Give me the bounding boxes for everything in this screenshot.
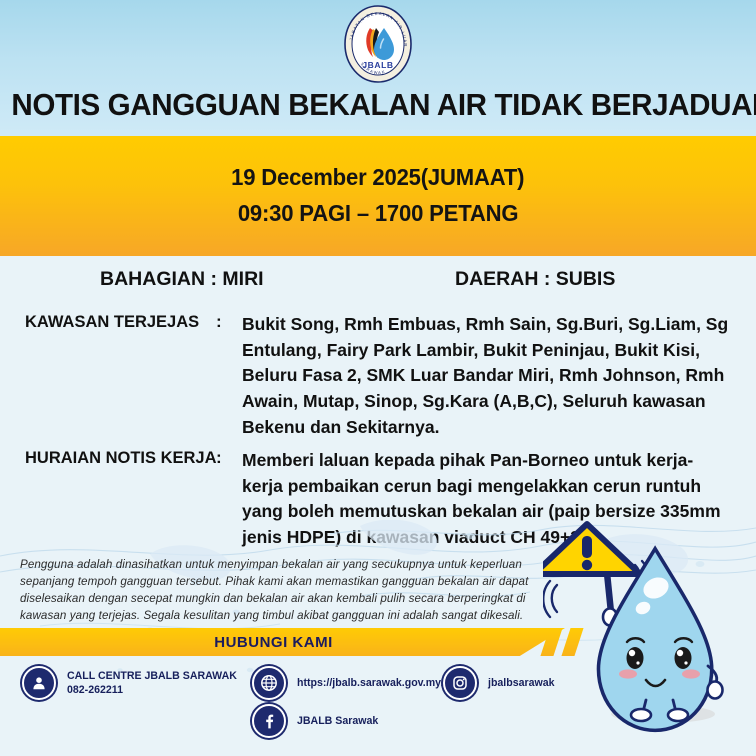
person-icon (22, 666, 56, 700)
notice-date: 19 December 2025(JUMAAT) (231, 160, 524, 196)
kawasan-label: KAWASAN TERJEJAS (25, 312, 199, 332)
website-url: https://jbalb.sarawak.gov.my/ (297, 676, 444, 690)
notice-poster: JABATAN BEKALAN AIR LUAR BANDAR SARAWAK … (0, 0, 756, 756)
contact-instagram[interactable]: jbalbsarawak (443, 666, 555, 700)
contact-website[interactable]: https://jbalb.sarawak.gov.my/ (252, 666, 444, 700)
svg-text:JBALB: JBALB (362, 60, 393, 70)
contact-facebook[interactable]: JBALB Sarawak (252, 704, 378, 738)
call-centre-number: 082-262211 (67, 683, 237, 697)
notice-time: 09:30 PAGI – 1700 PETANG (238, 196, 519, 232)
call-centre-name: CALL CENTRE JBALB SARAWAK (67, 670, 237, 682)
jbalb-logo: JABATAN BEKALAN AIR LUAR BANDAR SARAWAK … (342, 4, 414, 84)
instagram-icon (443, 666, 477, 700)
poster-header: JABATAN BEKALAN AIR LUAR BANDAR SARAWAK … (0, 0, 756, 136)
page-title: NOTIS GANGGUAN BEKALAN AIR TIDAK BERJADU… (11, 88, 744, 123)
disclaimer-text: Pengguna adalah dinasihatkan untuk menyi… (20, 556, 565, 625)
notice-details: BAHAGIAN : MIRI DAERAH : SUBIS KAWASAN T… (0, 256, 756, 556)
kawasan-value: Bukit Song, Rmh Embuas, Rmh Sain, Sg.Bur… (242, 312, 730, 441)
huraian-label: HURAIAN NOTIS KERJA (25, 448, 216, 468)
contact-call-centre[interactable]: CALL CENTRE JBALB SARAWAK 082-262211 (22, 666, 237, 700)
facebook-page: JBALB Sarawak (297, 714, 378, 728)
date-time-band: 19 December 2025(JUMAAT) 09:30 PAGI – 17… (0, 136, 756, 256)
huraian-colon: : (216, 448, 222, 468)
call-centre-text: CALL CENTRE JBALB SARAWAK 082-262211 (67, 669, 237, 698)
daerah-value: DAERAH : SUBIS (455, 268, 615, 291)
contact-band: HUBUNGI KAMI (0, 628, 565, 656)
facebook-icon (252, 704, 286, 738)
contact-band-title: HUBUNGI KAMI (214, 634, 333, 651)
kawasan-colon: : (216, 312, 222, 332)
globe-icon (252, 666, 286, 700)
bahagian-value: BAHAGIAN : MIRI (100, 268, 264, 291)
water-droplet-mascot (543, 518, 756, 756)
